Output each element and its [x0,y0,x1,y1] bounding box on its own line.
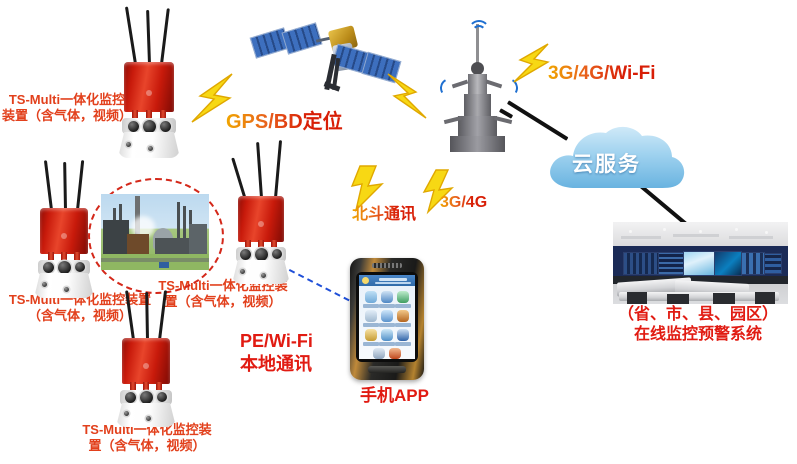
label-beidou: 北斗通讯 [352,205,416,225]
bolt-satellite-to-tower [382,72,434,122]
label-3g4g: 3G/4G [440,193,487,213]
cloud-label: 云服务 [572,148,641,178]
monitor-device-3 [216,140,322,278]
pda-screen[interactable] [359,275,415,359]
wifi-signal-left-icon [438,76,462,100]
diagram-canvas: 云服务 GPS/BD定位 3G/4G/Wi-Fi 北斗通讯 3G/4G PE/W… [0,0,797,464]
label-phone-app: 手机APP [360,385,429,406]
label-3g4g-wifi: 3G/4G/Wi-Fi [548,62,656,86]
monitor-device-4 [98,290,204,424]
wifi-signal-top-icon-2 [472,25,486,39]
monitor-device-1 [98,6,204,158]
rugged-pda-icon[interactable] [350,258,424,380]
cell-tower-icon [432,18,524,152]
label-control-center: （省、市、县、园区） 在线监控预警系统 [608,305,788,345]
label-gps-bd: GPS/BD定位 [226,110,343,135]
satellite-icon [246,8,382,100]
control-room-photo [613,222,788,304]
monitor-device-2 [16,160,122,298]
label-local-comm: PE/Wi-Fi 本地通讯 [240,330,313,375]
